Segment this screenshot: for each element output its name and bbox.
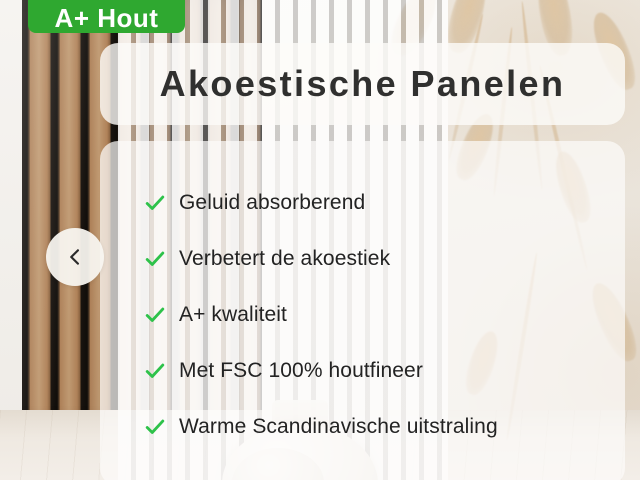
feature-list: Geluid absorberend Verbetert de akoestie… xyxy=(144,175,625,455)
list-item: Warme Scandinavische uitstraling xyxy=(144,399,625,455)
list-item-label: Verbetert de akoestiek xyxy=(179,247,390,271)
quality-badge: A+ Hout xyxy=(28,0,185,33)
list-item-label: Met FSC 100% houtfineer xyxy=(179,359,423,383)
chevron-left-icon xyxy=(65,247,85,267)
features-card: Geluid absorberend Verbetert de akoestie… xyxy=(100,141,625,480)
title-card: Akoestische Panelen xyxy=(100,43,625,125)
product-slide: A+ Hout Akoestische Panelen Geluid absor… xyxy=(0,0,640,480)
check-icon xyxy=(144,360,166,382)
check-icon xyxy=(144,248,166,270)
quality-badge-label: A+ Hout xyxy=(55,5,159,31)
list-item-label: Warme Scandinavische uitstraling xyxy=(179,415,498,439)
list-item-label: A+ kwaliteit xyxy=(179,303,287,327)
list-item: A+ kwaliteit xyxy=(144,287,625,343)
carousel-prev-button[interactable] xyxy=(46,228,104,286)
list-item: Met FSC 100% houtfineer xyxy=(144,343,625,399)
page-title: Akoestische Panelen xyxy=(160,63,566,105)
list-item-label: Geluid absorberend xyxy=(179,191,365,215)
check-icon xyxy=(144,304,166,326)
wall-left-edge xyxy=(0,0,22,424)
list-item: Verbetert de akoestiek xyxy=(144,231,625,287)
check-icon xyxy=(144,416,166,438)
check-icon xyxy=(144,192,166,214)
list-item: Geluid absorberend xyxy=(144,175,625,231)
